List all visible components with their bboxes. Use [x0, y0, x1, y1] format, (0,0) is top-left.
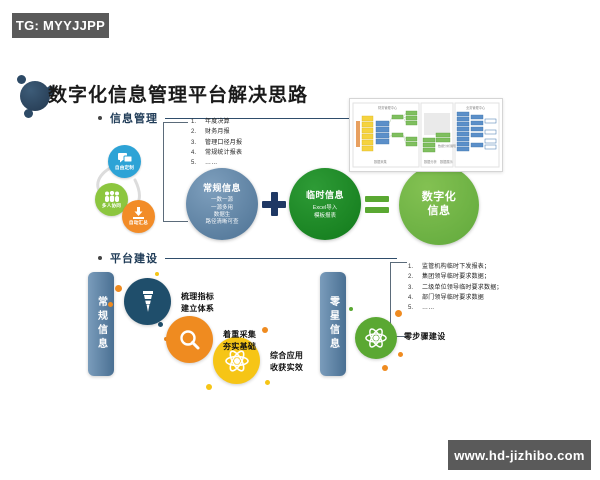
download-arrow-icon: [132, 207, 145, 219]
watermark-top: TG: MYYJJPP: [12, 13, 109, 38]
bullet-icon: [98, 256, 102, 260]
plus-icon: [262, 192, 286, 216]
list-item: 4.部门领导临时要求数据: [408, 293, 503, 303]
step-circle-collection[interactable]: [166, 316, 213, 363]
step-label-line1: 综合应用: [270, 350, 303, 362]
list-item: 4.常规统计报表: [191, 148, 242, 158]
speckle: [382, 365, 388, 371]
speckle: [265, 380, 270, 385]
watermark-bottom: www.hd-jizhibo.com: [448, 440, 591, 470]
mini-circle-label: 自由定制: [115, 165, 134, 171]
list-number: 5.: [191, 158, 205, 168]
people-group-icon: [104, 191, 120, 202]
list-item: 3.二级单位领导临时要求数据；: [408, 283, 503, 293]
section-label: 平台建设: [110, 250, 158, 266]
list-text: 管理口径月报: [205, 138, 242, 148]
step-label-line1: 梳理指标: [181, 291, 214, 303]
circle-regular-info[interactable]: 常规信息 一数一源 一源多用 数据生 路径清晰可查: [186, 168, 258, 240]
step-label-line1: 着重采集: [223, 329, 256, 341]
list-number: 3.: [408, 283, 422, 293]
step-label-line2: 建立体系: [181, 303, 214, 315]
speckle: [398, 352, 403, 357]
list-text: 监管机构临时下发报表；: [422, 262, 490, 272]
list-item: 2.集团领导临时要求数据；: [408, 272, 503, 282]
speckle: [155, 272, 159, 276]
list-number: 2.: [408, 272, 422, 282]
speckle: [262, 327, 268, 333]
mini-circle-label: 多人协同: [102, 203, 121, 209]
speckle: [395, 310, 402, 317]
circle-temporary-info[interactable]: 临时信息 Excel导入 模板报表: [289, 168, 361, 240]
vertical-bar-scattered-info: 零星信息: [320, 272, 346, 376]
vertical-bar-regular-info: 常规信息: [88, 272, 114, 376]
step-circle-indicators[interactable]: [124, 278, 171, 325]
mini-circle-label: 自动汇总: [129, 220, 148, 226]
list-text: 部门领导临时要求数据: [422, 293, 484, 303]
step-label-line2: 夯实基础: [223, 341, 256, 353]
list-text: 财务月报: [205, 127, 230, 137]
equals-icon: [365, 196, 389, 213]
zero-step-label: 零步骤建设: [404, 331, 446, 343]
speckle: [158, 322, 163, 327]
list-item: 1.年度决算: [191, 117, 242, 127]
list-number: 4.: [191, 148, 205, 158]
circle-subtitle: Excel导入 模板报表: [313, 205, 337, 220]
regular-info-list: 1.年度决算 2.财务月报 3.管理口径月报 4.常规统计报表 5.……: [191, 117, 242, 169]
svg-text:数据展示: 数据展示: [440, 159, 453, 164]
svg-text:数据分析展现: 数据分析展现: [438, 143, 456, 148]
list-number: 1.: [408, 262, 422, 272]
list-text: 集团领导临时要求数据；: [422, 272, 490, 282]
step-label-application: 综合应用 收获实效: [270, 350, 303, 373]
list-item: 3.管理口径月报: [191, 138, 242, 148]
list-item: 1.监管机构临时下发报表；: [408, 262, 503, 272]
section-label: 信息管理: [110, 110, 158, 126]
list-number: 3.: [191, 138, 205, 148]
step-label-indicators: 梳理指标 建立体系: [181, 291, 214, 314]
chat-bubble-icon: [118, 153, 132, 164]
list-number: 4.: [408, 293, 422, 303]
speckle: [108, 302, 113, 307]
mini-circle-custom[interactable]: 自由定制: [108, 145, 141, 178]
list-text: ……: [205, 158, 217, 168]
divider: [165, 258, 397, 259]
pen-nib-icon: [138, 291, 158, 313]
atom-icon: [365, 327, 387, 349]
svg-text:业务管理中心: 业务管理中心: [466, 105, 486, 110]
circle-title: 常规信息: [203, 181, 241, 194]
zero-step-circle[interactable]: [355, 317, 397, 359]
bullet-icon: [98, 116, 102, 120]
list-text: 二级单位领导临时要求数据；: [422, 283, 503, 293]
svg-text:数据分析: 数据分析: [424, 159, 438, 164]
circle-title: 数字化 信息: [422, 191, 457, 219]
list-number: 1.: [191, 117, 205, 127]
step-label-collection: 着重采集 夯实基础: [223, 329, 256, 352]
svg-text:数据采集: 数据采集: [374, 159, 388, 164]
list-number: 5.: [408, 303, 422, 313]
section-header-platform-construction: 平台建设: [98, 250, 397, 266]
svg-text:财务管理中心: 财务管理中心: [378, 105, 398, 110]
speckle: [115, 285, 122, 292]
speckle: [206, 384, 212, 390]
slide-canvas: TG: MYYJJPP www.hd-jizhibo.com 数字化信息管理平台…: [0, 0, 600, 480]
mini-circle-autosum[interactable]: 自动汇总: [122, 200, 155, 233]
temporary-info-list: 1.监管机构临时下发报表； 2.集团领导临时要求数据； 3.二级单位领导临时要求…: [408, 262, 503, 314]
dashboard-flowchart-thumbnail[interactable]: 财务管理中心 业务管理中心: [349, 98, 503, 172]
list-text: 年度决算: [205, 117, 230, 127]
list-item: 5.……: [191, 158, 242, 168]
step-label-line2: 收获实效: [270, 362, 303, 374]
circle-title: 临时信息: [306, 188, 344, 201]
list-item: 2.财务月报: [191, 127, 242, 137]
list-number: 2.: [191, 127, 205, 137]
list-text: 常规统计报表: [205, 148, 242, 158]
circle-digital-info[interactable]: 数字化 信息: [399, 165, 479, 245]
circle-subtitle: 一数一源 一源多用 数据生 路径清晰可查: [205, 197, 238, 227]
list-text: ……: [422, 303, 434, 313]
page-title: 数字化信息管理平台解决思路: [48, 80, 308, 107]
speckle: [349, 307, 353, 311]
list-item: 5.……: [408, 303, 503, 313]
magnifier-icon: [179, 329, 201, 351]
